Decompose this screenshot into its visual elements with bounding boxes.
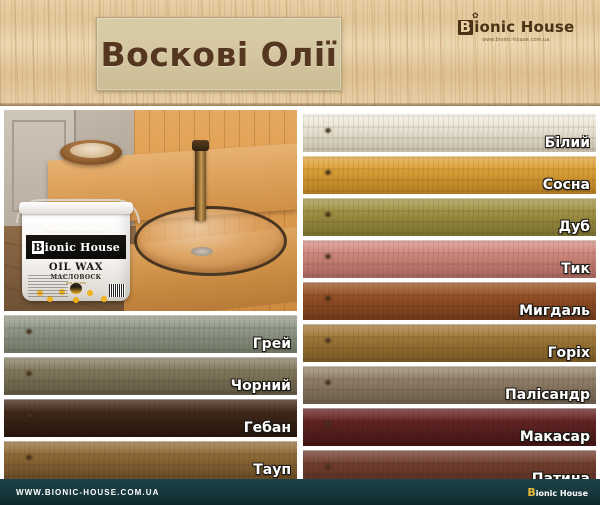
bucket-fine-print: [28, 275, 68, 297]
footer-brand-logo: Bionic House: [527, 486, 588, 499]
wood-knot-icon: [325, 170, 331, 175]
bucket-product-en: OIL WAX: [26, 263, 126, 274]
wood-knot-icon: [26, 371, 32, 376]
wood-knot-icon: [325, 128, 331, 133]
color-swatch-row[interactable]: Палісандр: [303, 366, 596, 404]
swatch-label: Макасар: [520, 430, 590, 445]
footer-website-url[interactable]: WWW.BIONIC-HOUSE.COM.UA: [16, 488, 160, 497]
swatch-label: Сосна: [543, 178, 590, 193]
color-swatch-row[interactable]: Дуб: [303, 198, 596, 236]
swatch-sheen: [303, 241, 596, 278]
bucket-premium-line: Premium Quality Coating System: [26, 230, 126, 234]
bee-icon: [70, 283, 82, 294]
wood-knot-icon: [325, 254, 331, 259]
leaf-icon: ✿: [472, 12, 479, 20]
wood-knot-icon: [325, 212, 331, 217]
poster-root: Воскові Олії ✿ Bionic House www.bionic-h…: [0, 0, 600, 505]
content-grid: Premium Quality Coating System Bionic Ho…: [0, 106, 600, 477]
brand-name-text: ionic House: [474, 18, 574, 36]
wood-knot-icon: [26, 455, 32, 460]
swatch-label: Горіх: [548, 346, 590, 361]
photo-sink-drain: [191, 247, 213, 256]
bucket-lid: [19, 202, 133, 214]
color-swatch-row[interactable]: Чорний: [4, 357, 297, 395]
color-swatch-row[interactable]: Тик: [303, 240, 596, 278]
right-swatch-list: БілийСоснаДубТикМигдальГоріхПалісандрМак…: [303, 114, 596, 488]
title-plaque: Воскові Олії: [96, 17, 342, 91]
footer-bar: WWW.BIONIC-HOUSE.COM.UA Bionic House: [0, 479, 600, 505]
swatch-label: Чорний: [231, 379, 291, 394]
photo-faucet-head: [192, 140, 209, 151]
wood-knot-icon: [325, 422, 331, 427]
left-swatch-list: ГрейЧорнийГебанТауп: [4, 315, 297, 479]
swatch-label: Мигдаль: [519, 304, 590, 319]
bucket-brand-name: Bionic House: [32, 241, 120, 254]
photo-bowl-contents: [70, 143, 114, 158]
header-brand-url: www.bionic-house.com.ua: [446, 38, 586, 43]
swatch-label: Грей: [253, 337, 291, 352]
brand-b-mark: B: [458, 20, 474, 35]
bucket-brand-band: Bionic House: [26, 235, 126, 259]
wood-knot-icon: [26, 413, 32, 418]
right-column: БілийСоснаДубТикМигдальГоріхПалісандрМак…: [303, 110, 596, 488]
swatch-label: Тауп: [253, 463, 291, 478]
swatch-label: Гебан: [244, 421, 291, 436]
product-photo: Premium Quality Coating System Bionic Ho…: [4, 110, 297, 311]
color-swatch-row[interactable]: Білий: [303, 114, 596, 152]
swatch-label: Тик: [561, 262, 590, 277]
wood-knot-icon: [26, 329, 32, 334]
wood-knot-icon: [325, 380, 331, 385]
footer-brand-text: ionic House: [536, 489, 588, 498]
header-brand-name: ✿ Bionic House: [446, 20, 586, 35]
wood-knot-icon: [325, 338, 331, 343]
color-swatch-row[interactable]: Мигдаль: [303, 282, 596, 320]
wood-knot-icon: [325, 464, 331, 469]
color-swatch-row[interactable]: Гебан: [4, 399, 297, 437]
wood-knot-icon: [325, 296, 331, 301]
color-swatch-row[interactable]: Грей: [4, 315, 297, 353]
photo-faucet: [195, 146, 206, 221]
bucket-body: Premium Quality Coating System Bionic Ho…: [22, 207, 130, 301]
bucket-b-mark: B: [32, 241, 44, 254]
header-brand-logo: ✿ Bionic House www.bionic-house.com.ua: [446, 20, 586, 43]
color-swatch-row[interactable]: Горіх: [303, 324, 596, 362]
page-title: Воскові Олії: [101, 38, 338, 71]
bucket-brand-text: ionic House: [45, 241, 120, 254]
swatch-label: Палісандр: [505, 388, 590, 403]
footer-b-mark: B: [527, 486, 535, 499]
color-swatch-row[interactable]: Сосна: [303, 156, 596, 194]
photo-glass-sink: [134, 206, 287, 276]
swatch-label: Дуб: [559, 220, 590, 235]
barcode-icon: [109, 284, 125, 297]
product-bucket: Premium Quality Coating System Bionic Ho…: [22, 199, 130, 301]
left-column: Premium Quality Coating System Bionic Ho…: [4, 110, 297, 479]
color-swatch-row[interactable]: Макасар: [303, 408, 596, 446]
swatch-sheen: [303, 199, 596, 236]
header-wood-banner: Воскові Олії ✿ Bionic House www.bionic-h…: [0, 0, 600, 106]
color-swatch-row[interactable]: Тауп: [4, 441, 297, 479]
swatch-label: Білий: [545, 136, 590, 151]
